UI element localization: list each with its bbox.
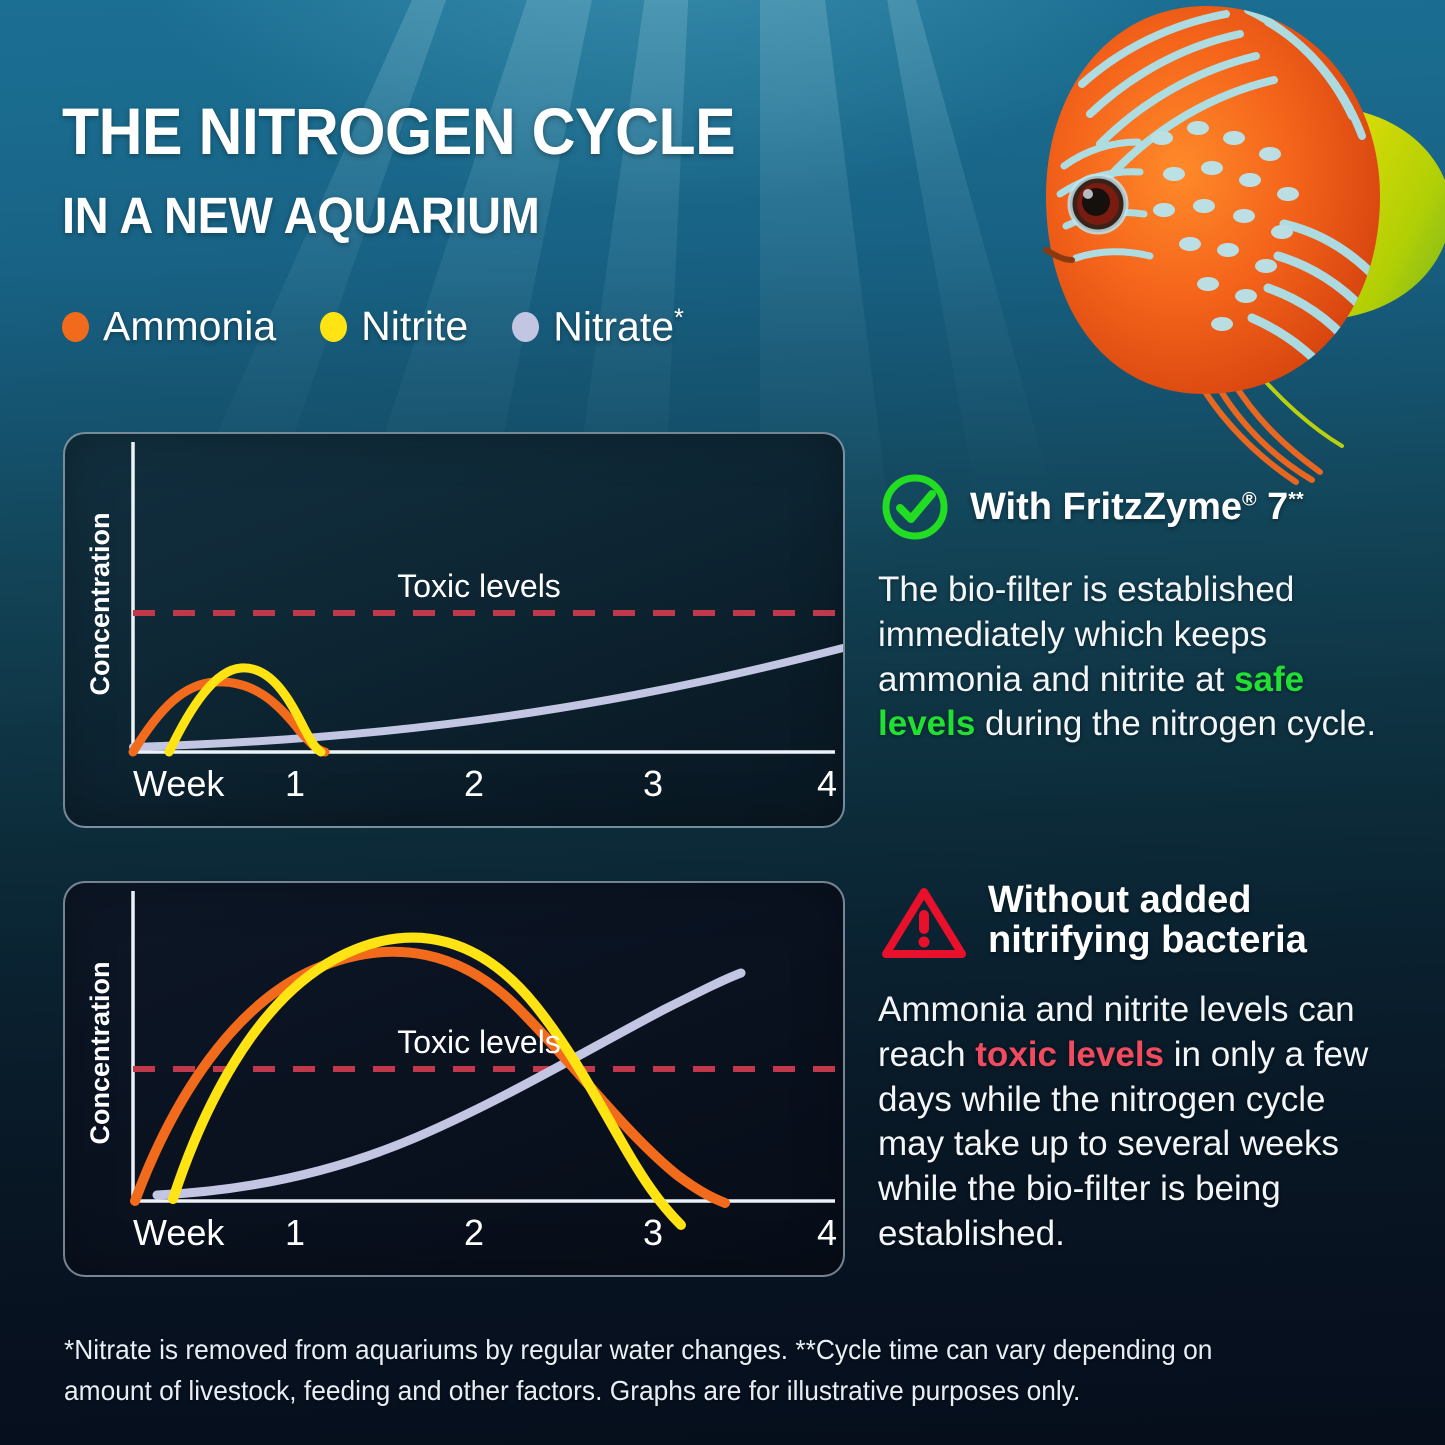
series-legend: Ammonia Nitrite Nitrate* xyxy=(62,306,684,348)
chart1-xtick-1: 1 xyxy=(285,763,305,804)
legend-label-nitrate-text: Nitrate xyxy=(553,304,674,350)
warning-triangle-icon xyxy=(878,882,970,964)
legend-label-ammonia: Ammonia xyxy=(103,306,276,347)
chart2-xtick-4: 4 xyxy=(817,1212,837,1253)
callout1-title: With FritzZyme® 7** xyxy=(970,487,1304,527)
callout2-title-line2: nitrifying bacteria xyxy=(988,920,1307,960)
callout1-title-asterisks: ** xyxy=(1288,488,1303,510)
legend-label-nitrite: Nitrite xyxy=(361,306,468,347)
callout-with-fritzzyme: With FritzZyme® 7** The bio-filter is es… xyxy=(878,470,1378,747)
chart2-xtick-1: 1 xyxy=(285,1212,305,1253)
callout1-body-pre: The bio-filter is established immediatel… xyxy=(878,570,1294,699)
callout2-body: Ammonia and nitrite levels can reach tox… xyxy=(878,988,1378,1257)
chart2-xtick-2: 2 xyxy=(464,1212,484,1253)
chart2-y-axis-label: Concentration xyxy=(85,961,115,1144)
legend-item-ammonia: Ammonia xyxy=(62,306,276,347)
infographic-page: THE NITROGEN CYCLE IN A NEW AQUARIUM Amm… xyxy=(0,0,1445,1445)
series-line-nitrate xyxy=(133,648,843,747)
legend-dot-nitrate xyxy=(512,312,539,342)
check-circle-icon xyxy=(878,470,952,544)
callout2-title: Without added nitrifying bacteria xyxy=(988,880,1307,961)
fish-eye xyxy=(1070,176,1126,232)
discus-fish-image xyxy=(1012,0,1445,498)
legend-dot-nitrite xyxy=(320,312,347,342)
page-title: THE NITROGEN CYCLE xyxy=(62,98,964,164)
callout1-header: With FritzZyme® 7** xyxy=(878,470,1378,544)
registered-mark-icon: ® xyxy=(1242,488,1257,510)
page-subtitle: IN A NEW AQUARIUM xyxy=(62,190,964,241)
chart1-toxic-label: Toxic levels xyxy=(397,568,561,604)
legend-item-nitrate: Nitrate* xyxy=(512,306,684,348)
chart2-xtick-week: Week xyxy=(133,1212,225,1253)
chart1-xtick-3: 3 xyxy=(643,763,663,804)
footnote-text: *Nitrate is removed from aquariums by re… xyxy=(64,1330,1239,1411)
chart2-xtick-3: 3 xyxy=(643,1212,663,1253)
chart1-y-axis-label: Concentration xyxy=(85,512,115,695)
legend-label-nitrate: Nitrate* xyxy=(553,306,684,348)
chart2-toxic-label: Toxic levels xyxy=(397,1024,561,1060)
chart1-xtick-week: Week xyxy=(133,763,225,804)
callout1-body: The bio-filter is established immediatel… xyxy=(878,568,1378,747)
callout2-title-line1: Without added xyxy=(988,880,1307,920)
callout2-highlight: toxic levels xyxy=(975,1035,1164,1074)
callout1-title-main: With FritzZyme xyxy=(970,486,1242,528)
chart-panel-with-fritzzyme: Concentration Toxic levels Week 1 2 3 4 xyxy=(63,432,845,828)
series-line-nitrate xyxy=(157,973,741,1195)
callout-without-bacteria: Without added nitrifying bacteria Ammoni… xyxy=(878,880,1378,1257)
chart1-xtick-2: 2 xyxy=(464,763,484,804)
legend-dot-ammonia xyxy=(62,312,89,342)
chart1-xtick-4: 4 xyxy=(817,763,837,804)
callout1-body-post: during the nitrogen cycle. xyxy=(975,704,1376,743)
chart-panel-without-bacteria: Concentration Toxic levels Week 1 2 3 4 xyxy=(63,881,845,1277)
callout2-header: Without added nitrifying bacteria xyxy=(878,880,1378,964)
legend-nitrate-asterisk: * xyxy=(674,304,684,332)
callout1-title-tail: 7 xyxy=(1257,486,1289,528)
legend-item-nitrite: Nitrite xyxy=(320,306,468,347)
